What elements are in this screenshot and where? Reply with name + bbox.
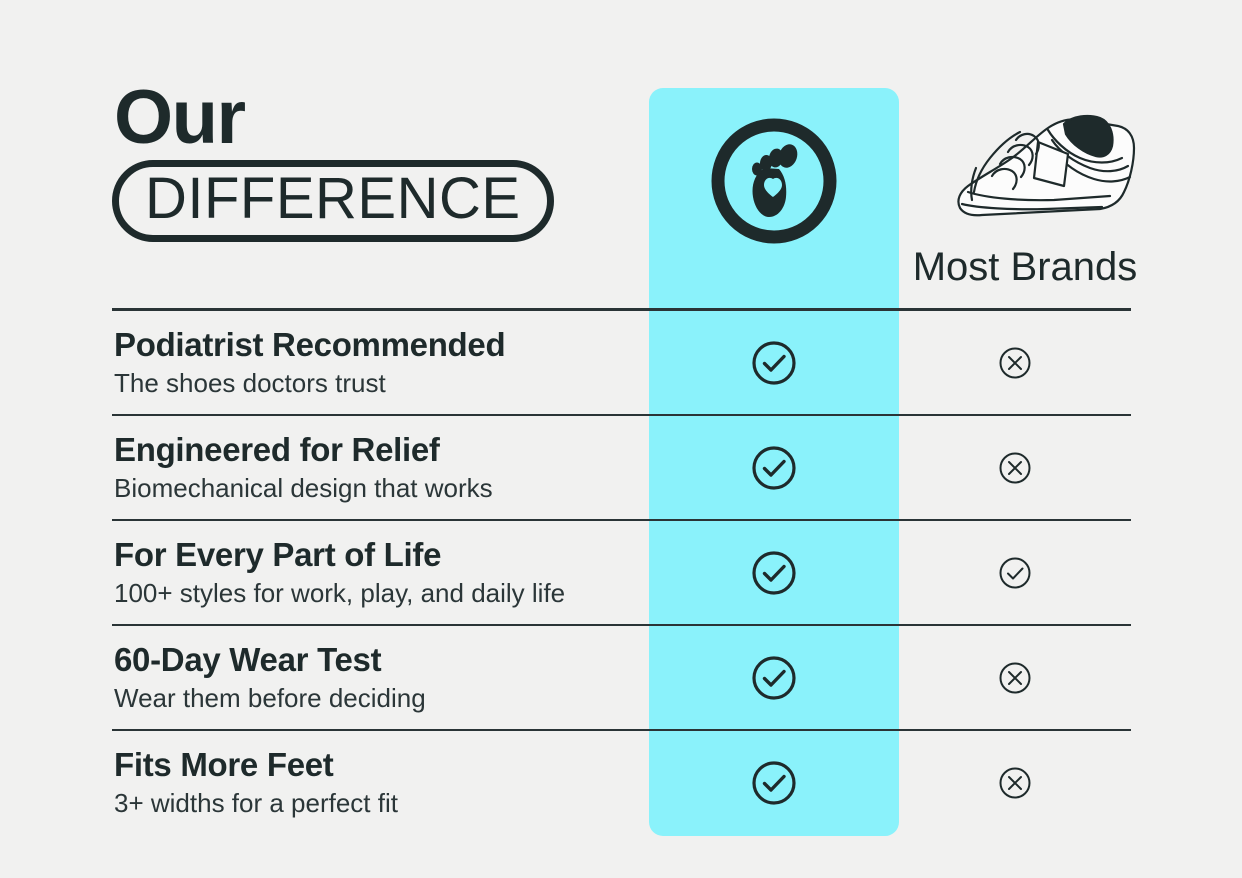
cell-ours <box>649 521 899 624</box>
row-subtitle: Biomechanical design that works <box>114 473 649 504</box>
cell-ours <box>649 731 899 834</box>
cell-ours <box>649 311 899 414</box>
cell-ours <box>649 626 899 729</box>
row-title: Fits More Feet <box>114 746 649 784</box>
row-title: Podiatrist Recommended <box>114 326 649 364</box>
cross-circle-icon <box>998 766 1032 800</box>
row-subtitle: 100+ styles for work, play, and daily li… <box>114 578 649 609</box>
table-row: Podiatrist Recommended The shoes doctors… <box>112 311 1131 414</box>
row-subtitle: The shoes doctors trust <box>114 368 649 399</box>
row-title: For Every Part of Life <box>114 536 649 574</box>
cross-circle-icon <box>998 451 1032 485</box>
cell-theirs <box>899 521 1131 624</box>
row-label-group: 60-Day Wear Test Wear them before decidi… <box>112 641 649 714</box>
cross-circle-icon <box>998 346 1032 380</box>
cell-theirs <box>899 731 1131 834</box>
table-row: Engineered for Relief Biomechanical desi… <box>112 416 1131 519</box>
cell-theirs <box>899 626 1131 729</box>
cross-circle-icon <box>998 661 1032 695</box>
most-brands-label: Most Brands <box>899 245 1151 289</box>
title-pill: DIFFERENCE <box>112 160 554 242</box>
row-subtitle: Wear them before deciding <box>114 683 649 714</box>
cell-theirs <box>899 416 1131 519</box>
comparison-chart: Our DIFFERENCE <box>0 0 1242 878</box>
check-circle-icon <box>751 340 797 386</box>
row-label-group: For Every Part of Life 100+ styles for w… <box>112 536 649 609</box>
row-label-group: Podiatrist Recommended The shoes doctors… <box>112 326 649 399</box>
page-title: Our DIFFERENCE <box>112 82 554 242</box>
check-circle-icon <box>751 550 797 596</box>
title-line-our: Our <box>114 82 554 154</box>
footprint-heart-logo-icon <box>706 113 842 249</box>
row-label-group: Engineered for Relief Biomechanical desi… <box>112 431 649 504</box>
sneaker-illustration-icon <box>942 100 1148 230</box>
row-title: 60-Day Wear Test <box>114 641 649 679</box>
check-circle-icon <box>751 655 797 701</box>
check-circle-icon <box>751 445 797 491</box>
row-label-group: Fits More Feet 3+ widths for a perfect f… <box>112 746 649 819</box>
table-row: 60-Day Wear Test Wear them before decidi… <box>112 626 1131 729</box>
table-row: Fits More Feet 3+ widths for a perfect f… <box>112 731 1131 834</box>
title-line-difference: DIFFERENCE <box>145 170 521 228</box>
row-subtitle: 3+ widths for a perfect fit <box>114 788 649 819</box>
cell-theirs <box>899 311 1131 414</box>
check-circle-icon <box>751 760 797 806</box>
cell-ours <box>649 416 899 519</box>
check-circle-icon <box>998 556 1032 590</box>
feature-table: Podiatrist Recommended The shoes doctors… <box>112 308 1131 834</box>
table-row: For Every Part of Life 100+ styles for w… <box>112 521 1131 624</box>
row-title: Engineered for Relief <box>114 431 649 469</box>
